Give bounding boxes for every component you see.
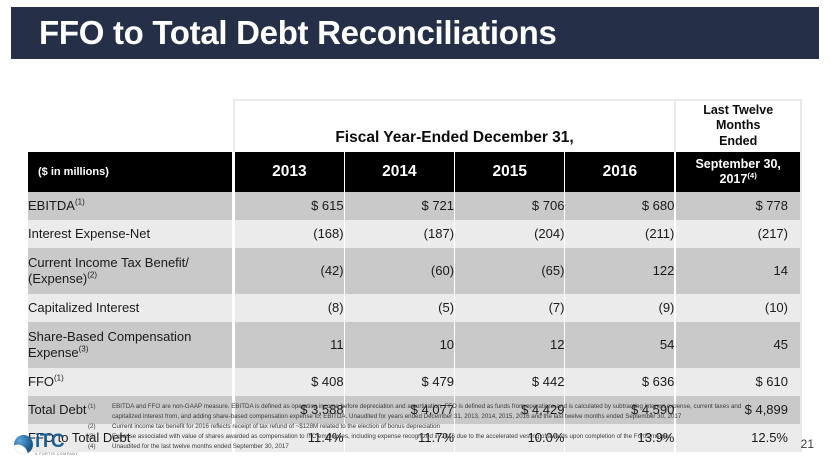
footnote-number: (4) bbox=[88, 442, 112, 452]
slide-title-bar: FFO to Total Debt Reconciliations bbox=[11, 7, 819, 59]
column-header-2015: 2015 bbox=[455, 152, 565, 192]
table-cell-value: (217) bbox=[675, 220, 801, 248]
table-cell-value: (65) bbox=[455, 248, 565, 294]
table-row: Interest Expense-Net(168)(187)(204)(211)… bbox=[28, 220, 801, 248]
table-cell-value: $ 442 bbox=[455, 368, 565, 396]
footnote-text: Expense associated with value of shares … bbox=[112, 432, 768, 442]
table-cell-value: (211) bbox=[565, 220, 675, 248]
page-title: FFO to Total Debt Reconciliations bbox=[39, 14, 557, 52]
table-row: Capitalized Interest(8)(5)(7)(9)(10) bbox=[28, 294, 801, 322]
row-label-footnote-marker: (3) bbox=[79, 344, 89, 353]
table-row: Share-Based CompensationExpense(3)111012… bbox=[28, 322, 801, 368]
row-label-footnote-marker: (1) bbox=[75, 197, 85, 206]
table-group-header-row: Fiscal Year-Ended December 31, Last Twel… bbox=[28, 100, 801, 152]
group-header-fiscal-year: Fiscal Year-Ended December 31, bbox=[234, 100, 676, 152]
footnote-number: (2) bbox=[88, 422, 112, 432]
row-label-footnote-marker: (1) bbox=[54, 373, 64, 382]
logo-text-wrap: iTC A FORTIS COMPANY bbox=[35, 432, 78, 457]
footnote-text: EBITDA and FFO are non-GAAP measure. EBI… bbox=[112, 402, 768, 422]
table-cell-value: $ 479 bbox=[344, 368, 454, 396]
table-row: Current Income Tax Benefit/(Expense)(2)(… bbox=[28, 248, 801, 294]
table-cell-value: 12 bbox=[455, 322, 565, 368]
table-cell-value: $ 610 bbox=[675, 368, 801, 396]
table-cell-value: (7) bbox=[455, 294, 565, 322]
table-cell-value: 45 bbox=[675, 322, 801, 368]
table-spacer-row bbox=[28, 70, 801, 100]
financial-table-container: Fiscal Year-Ended December 31, Last Twel… bbox=[28, 70, 802, 452]
table-row: EBITDA(1)$ 615$ 721$ 706$ 680$ 778 bbox=[28, 192, 801, 220]
column-header-2013: 2013 bbox=[234, 152, 344, 192]
table-cell-value: 14 bbox=[675, 248, 801, 294]
table-cell-value: 11 bbox=[234, 322, 344, 368]
table-cell-value: $ 721 bbox=[344, 192, 454, 220]
table-cell-value: (42) bbox=[234, 248, 344, 294]
column-header-2014: 2014 bbox=[344, 152, 454, 192]
ltm-date-footnote-marker: (4) bbox=[747, 171, 756, 180]
logo-brand-text: iTC bbox=[35, 432, 78, 451]
table-column-header-row: ($ in millions) 2013 2014 2015 2016 Sept… bbox=[28, 152, 801, 192]
table-cell-value: $ 615 bbox=[234, 192, 344, 220]
table-cell-value: (9) bbox=[565, 294, 675, 322]
footnote-item: (1)EBITDA and FFO are non-GAAP measure. … bbox=[88, 402, 768, 422]
row-label: FFO(1) bbox=[28, 368, 234, 396]
ltm-header-line2: Ended bbox=[719, 134, 757, 148]
footnote-item: (4)Unaudited for the last twelve months … bbox=[88, 442, 768, 452]
row-label: Interest Expense-Net bbox=[28, 220, 234, 248]
table-cell-value: (10) bbox=[675, 294, 801, 322]
table-cell-value: 122 bbox=[565, 248, 675, 294]
swoosh-icon bbox=[14, 435, 33, 454]
table-cell-value: 10 bbox=[344, 322, 454, 368]
footnotes-block: (1)EBITDA and FFO are non-GAAP measure. … bbox=[88, 402, 768, 452]
footnote-item: (3)Expense associated with value of shar… bbox=[88, 432, 768, 442]
table-cell-value: $ 778 bbox=[675, 192, 801, 220]
table-cell-value: $ 636 bbox=[565, 368, 675, 396]
table-cell-value: (187) bbox=[344, 220, 454, 248]
page-number: 21 bbox=[801, 437, 814, 451]
column-header-units: ($ in millions) bbox=[28, 152, 234, 192]
row-label: Share-Based CompensationExpense(3) bbox=[28, 322, 234, 368]
table-cell-value: $ 706 bbox=[455, 192, 565, 220]
row-label: EBITDA(1) bbox=[28, 192, 234, 220]
ltm-date-line2: 2017 bbox=[720, 172, 748, 186]
table-row: FFO(1)$ 408$ 479$ 442$ 636$ 610 bbox=[28, 368, 801, 396]
footnote-text: Current income tax benefit for 2016 refl… bbox=[112, 422, 768, 432]
table-cell-value: $ 680 bbox=[565, 192, 675, 220]
row-label-footnote-marker: (2) bbox=[87, 270, 97, 279]
itc-logo: iTC A FORTIS COMPANY bbox=[14, 429, 86, 459]
table-cell-value: (204) bbox=[455, 220, 565, 248]
row-label: Capitalized Interest bbox=[28, 294, 234, 322]
group-header-last-twelve-months: Last Twelve Months Ended bbox=[675, 100, 801, 152]
column-header-ltm-date: September 30, 2017(4) bbox=[675, 152, 801, 192]
footnote-number: (3) bbox=[88, 432, 112, 442]
footnote-item: (2)Current income tax benefit for 2016 r… bbox=[88, 422, 768, 432]
footnote-number: (1) bbox=[88, 402, 112, 422]
table-cell-value: 54 bbox=[565, 322, 675, 368]
table-cell-value: (5) bbox=[344, 294, 454, 322]
ltm-date-line1: September 30, bbox=[695, 157, 780, 171]
table-cell-value: $ 408 bbox=[234, 368, 344, 396]
ffo-to-total-debt-table: Fiscal Year-Ended December 31, Last Twel… bbox=[28, 70, 802, 452]
row-label: Current Income Tax Benefit/(Expense)(2) bbox=[28, 248, 234, 294]
ltm-header-line1: Last Twelve Months bbox=[703, 103, 773, 132]
group-header-blank-cell bbox=[28, 100, 234, 152]
table-cell-value: (60) bbox=[344, 248, 454, 294]
table-cell-value: (8) bbox=[234, 294, 344, 322]
footnote-text: Unaudited for the last twelve months end… bbox=[112, 442, 768, 452]
column-header-2016: 2016 bbox=[565, 152, 675, 192]
table-cell-value: (168) bbox=[234, 220, 344, 248]
logo-tagline: A FORTIS COMPANY bbox=[35, 453, 78, 457]
